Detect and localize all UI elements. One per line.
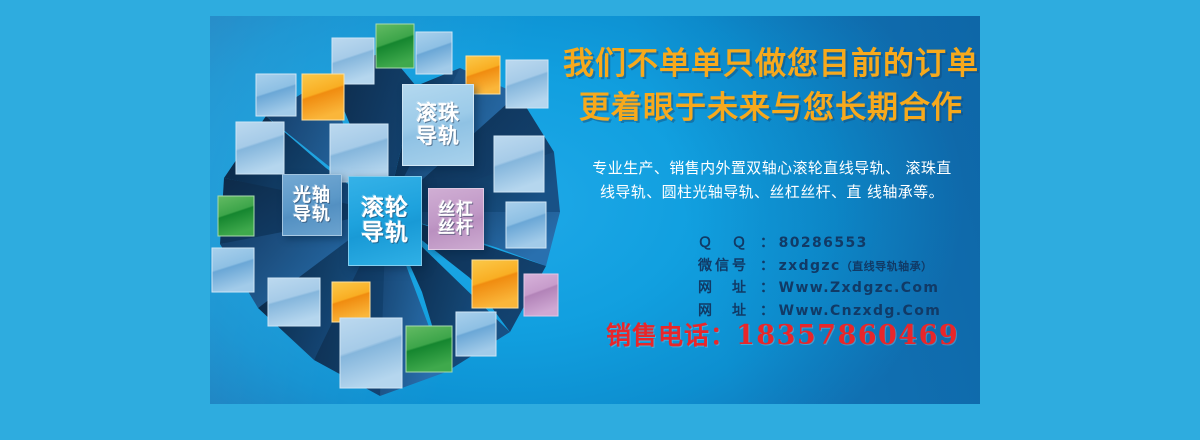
- label-cube-sigang-sigan: 丝杠 丝杆: [428, 188, 484, 250]
- contact-block: Ｑ Ｑ ： 80286553 微信号 ： zxdgzc （直线导轨轴承） 网 址…: [698, 232, 980, 323]
- label-cube-gunzhu-line2: 导轨: [416, 125, 460, 148]
- description-paragraph: 专业生产、销售内外置双轴心滚轮直线导轨、 滚珠直线导轨、圆柱光轴导轨、丝杠丝杆、…: [586, 156, 958, 205]
- contact-separator-qq: ：: [760, 232, 779, 255]
- contact-value-wechat[interactable]: zxdgzc: [779, 255, 841, 278]
- contact-row-qq: Ｑ Ｑ ： 80286553: [698, 232, 980, 255]
- contact-row-website-1: 网 址 ： Www.Zxdgzc.Com: [698, 277, 980, 300]
- contact-separator-website-1: ：: [760, 277, 779, 300]
- label-cube-sigang-line2: 丝杆: [438, 219, 474, 237]
- label-cube-guangzhou-line1: 光轴: [293, 186, 331, 205]
- contact-label-wechat: 微信号: [698, 255, 760, 278]
- label-cube-gunlun-line2: 导轨: [361, 221, 409, 246]
- sales-phone-number[interactable]: 18357860469: [736, 320, 959, 351]
- contact-value-qq[interactable]: 80286553: [779, 232, 868, 255]
- copy-column: 我们不单单只做您目前的订单 更着眼于未来与您长期合作 专业生产、销售内外置双轴心…: [562, 16, 980, 404]
- contact-row-wechat: 微信号 ： zxdgzc （直线导轨轴承）: [698, 255, 980, 278]
- contact-label-qq: Ｑ Ｑ: [698, 232, 760, 255]
- label-cube-gunlun-daogui: 滚轮 导轨: [348, 176, 422, 266]
- label-cube-gunlun-line1: 滚轮: [361, 196, 409, 221]
- promo-banner: 滚珠 导轨 光轴 导轨 滚轮 导轨 丝杠 丝杆 我们不单单只做您目前的订单 更着…: [210, 16, 980, 404]
- label-cube-gunzhu-daogui: 滚珠 导轨: [402, 84, 474, 166]
- contact-value-website-1[interactable]: Www.Zxdgzc.Com: [779, 277, 940, 300]
- sales-phone-label: 销售电话：: [606, 321, 736, 350]
- contact-separator-wechat: ：: [760, 255, 779, 278]
- contact-label-website-1: 网 址: [698, 277, 760, 300]
- headline-line-1: 我们不单单只做您目前的订单: [562, 42, 980, 86]
- label-cube-gunzhu-line1: 滚珠: [416, 102, 460, 125]
- banner-page: 滚珠 导轨 光轴 导轨 滚轮 导轨 丝杠 丝杆 我们不单单只做您目前的订单 更着…: [0, 0, 1200, 440]
- label-cube-guangzhou-daogui: 光轴 导轨: [282, 174, 342, 236]
- sales-phone[interactable]: 销售电话：18357860469: [606, 316, 980, 352]
- label-cube-guangzhou-line2: 导轨: [293, 205, 331, 224]
- headline: 我们不单单只做您目前的订单 更着眼于未来与您长期合作: [562, 42, 980, 130]
- description-line-3: 线轴承等。: [867, 183, 944, 201]
- description-line-1: 专业生产、销售内外置双轴心滚轮直线导轨、: [592, 159, 900, 177]
- label-cube-sigang-line1: 丝杠: [438, 201, 474, 219]
- contact-note-wechat: （直线导轨轴承）: [841, 258, 933, 276]
- headline-line-2: 更着眼于未来与您长期合作: [562, 86, 980, 130]
